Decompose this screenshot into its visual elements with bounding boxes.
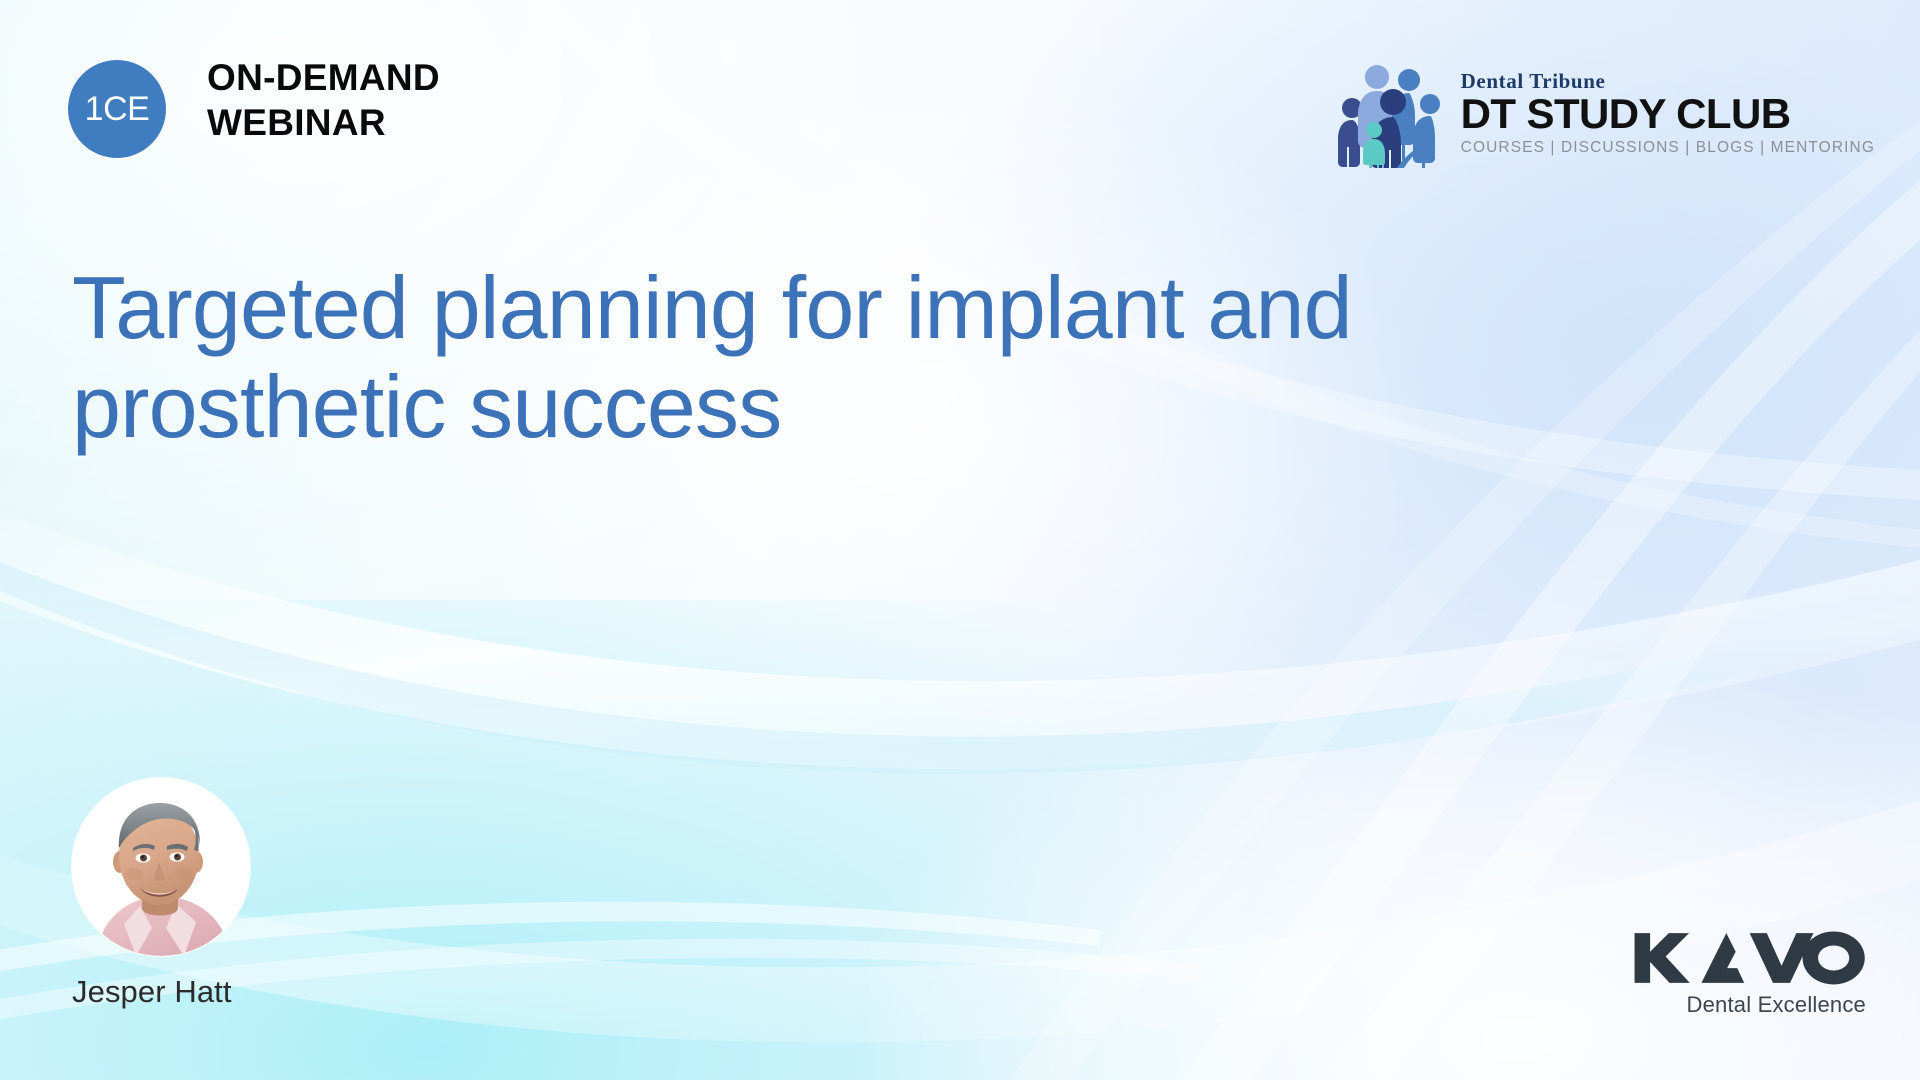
webinar-title-slide: 1CE ON-DEMAND WEBINAR: [0, 0, 1920, 1080]
presenter-block: Jesper Hatt: [72, 778, 492, 1010]
dt-study-club-text: DT STUDY CLUB: [1461, 93, 1875, 135]
ce-credit-badge: 1CE: [68, 60, 166, 158]
presenter-portrait-photo: [72, 778, 250, 956]
slide-header: 1CE ON-DEMAND WEBINAR: [0, 0, 1920, 200]
dt-logo-tagline: COURSES | DISCUSSIONS | BLOGS | MENTORIN…: [1461, 140, 1875, 156]
ce-badge-label: 1CE: [85, 90, 150, 129]
dt-logo-wordmark: Dental Tribune DT STUDY CLUB COURSES | D…: [1461, 70, 1875, 156]
page-title: Targeted planning for implant and prosth…: [72, 258, 1712, 457]
presenter-name: Jesper Hatt: [72, 974, 492, 1010]
webinar-label-line-1: ON-DEMAND: [207, 55, 627, 100]
webinar-type-label: ON-DEMAND WEBINAR: [207, 55, 627, 145]
dt-study-club-logo: Dental Tribune DT STUDY CLUB COURSES | D…: [1335, 58, 1875, 168]
kavo-tagline: Dental Excellence: [1633, 992, 1866, 1018]
kavo-wordmark-icon: [1633, 930, 1866, 986]
dt-study-club-family-icon: [1335, 58, 1447, 168]
dental-tribune-text: Dental Tribune: [1461, 70, 1875, 92]
kavo-brand-logo: Dental Excellence: [1633, 930, 1866, 1018]
webinar-label-line-2: WEBINAR: [207, 100, 627, 145]
